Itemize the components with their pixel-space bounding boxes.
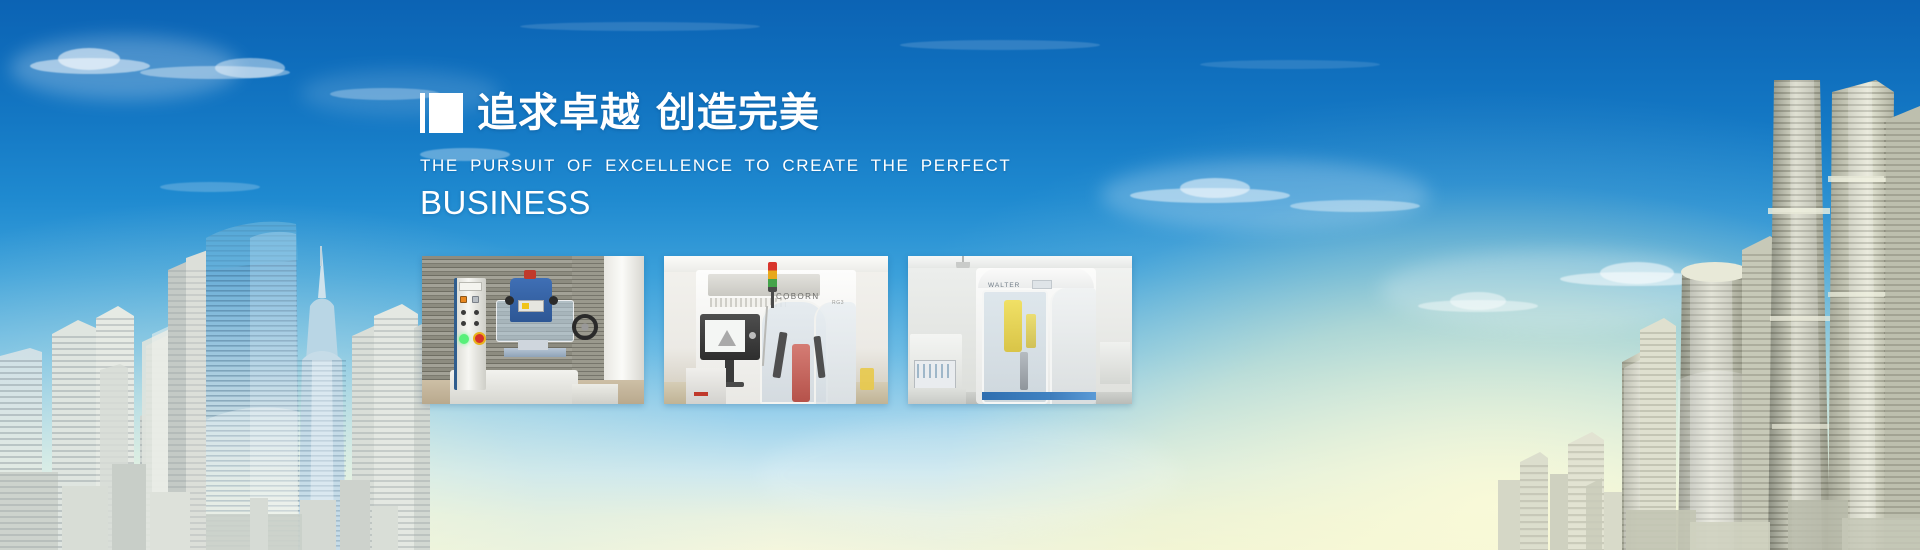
- cloud: [1180, 178, 1250, 198]
- cloud-soft: [1380, 250, 1740, 330]
- surface-grinder-photo[interactable]: [422, 256, 644, 404]
- coborn-grinding-machine-photo[interactable]: COBORN RG3: [664, 256, 888, 404]
- handwheel: [572, 314, 598, 340]
- cloud: [1450, 292, 1506, 310]
- button-black-icon: [474, 321, 479, 326]
- yellow-container: [860, 368, 874, 390]
- machine-door-right: [1050, 288, 1096, 404]
- cloud: [215, 58, 285, 78]
- right-equipment-box: [1100, 342, 1130, 384]
- emergency-stop-icon: [473, 332, 486, 345]
- button-black-icon: [474, 310, 479, 315]
- lower-cabinet: [908, 388, 966, 404]
- side-cabinet: [686, 368, 726, 404]
- spindle: [1020, 352, 1028, 390]
- cloud: [520, 22, 760, 31]
- banner-business-word: BUSINESS: [420, 184, 1140, 222]
- button-grey-icon: [472, 296, 479, 303]
- signal-tower-rod: [771, 290, 774, 308]
- top-cap: [524, 270, 536, 279]
- machine-brand-label: WALTER: [988, 282, 1020, 289]
- logo-bar-thin-icon: [420, 93, 425, 133]
- cloud: [1290, 200, 1420, 212]
- hero-banner: 追求卓越 创造完美 THE PURSUIT OF EXCELLENCE TO C…: [0, 0, 1920, 550]
- machine-brand-label: COBORN: [776, 292, 820, 301]
- hmi-triangle-graphic: [718, 330, 736, 346]
- magnetic-chuck: [518, 340, 548, 350]
- hmi-stand: [725, 360, 734, 384]
- inner-red-component: [792, 344, 810, 402]
- hmi-knob: [749, 332, 756, 339]
- cloud-soft: [760, 420, 1180, 530]
- product-photo-strip: COBORN RG3: [422, 256, 1132, 404]
- banner-headline: 追求卓越 创造完美: [477, 91, 820, 135]
- signal-tower-light-icon: [768, 262, 777, 292]
- cloud: [58, 48, 120, 70]
- button-black-icon: [461, 310, 466, 315]
- operator-panel-graph: [917, 364, 953, 378]
- banner-copy: 追求卓越 创造完美 THE PURSUIT OF EXCELLENCE TO C…: [420, 90, 1140, 222]
- cloud: [160, 182, 260, 192]
- headline-row: 追求卓越 创造完美: [420, 90, 1140, 136]
- warning-sticker-icon: [522, 303, 529, 309]
- double-bar-logo-mark: [420, 93, 463, 133]
- machine-base-right: [572, 384, 618, 404]
- cloud: [1200, 60, 1380, 69]
- yellow-internal-guard-2: [1026, 314, 1036, 348]
- power-indicator-green-icon: [459, 334, 469, 344]
- white-panel: [604, 256, 644, 384]
- logo-bar-wide-icon: [429, 93, 463, 133]
- machine-model-label: RG3: [832, 300, 844, 306]
- walter-tool-grinder-photo[interactable]: WALTER: [908, 256, 1132, 404]
- button-amber-icon: [460, 296, 467, 303]
- blue-base-band-right: [1050, 392, 1096, 400]
- yellow-internal-guard: [1004, 300, 1022, 352]
- knob-left: [505, 296, 514, 305]
- cabinet-red-strip: [694, 392, 708, 396]
- cloud: [1600, 262, 1674, 284]
- knob-right: [549, 296, 558, 305]
- machine-brand-plate: [1032, 280, 1052, 289]
- control-display: [459, 282, 482, 291]
- button-black-icon: [461, 321, 466, 326]
- cloud: [900, 40, 1100, 50]
- banner-subtitle: THE PURSUIT OF EXCELLENCE TO CREATE THE …: [420, 156, 1140, 176]
